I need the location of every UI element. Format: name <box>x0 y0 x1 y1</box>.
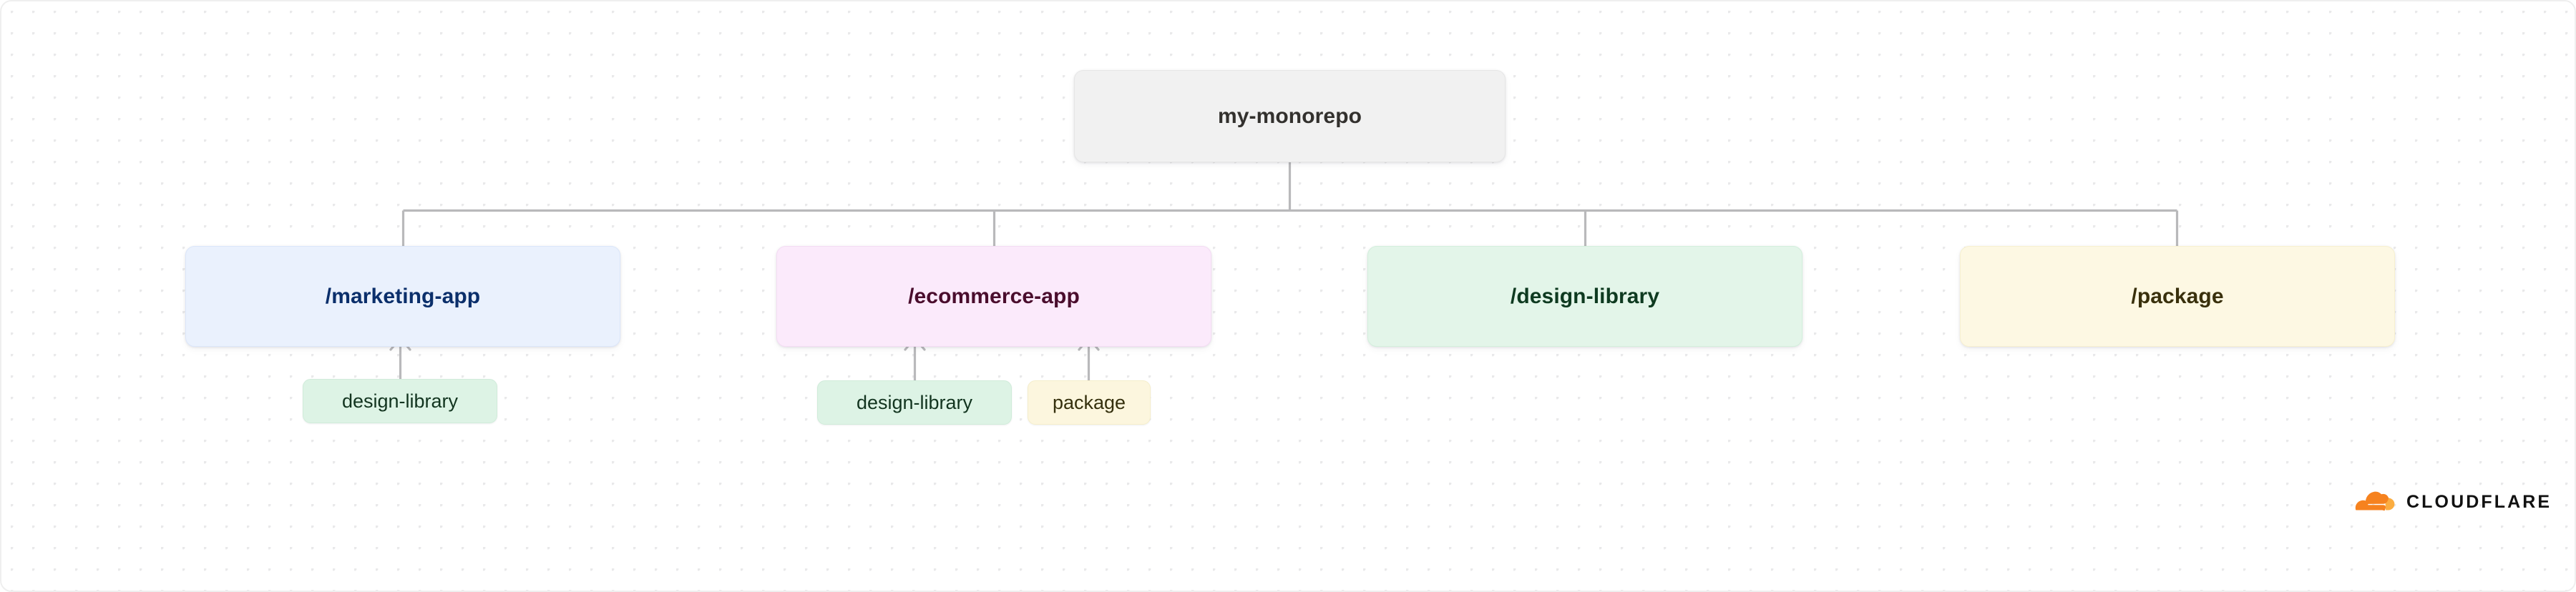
cloudflare-wordmark: CLOUDFLARE <box>2406 493 2552 511</box>
dependency-chip-marketing-design-library[interactable]: design-library <box>303 379 497 423</box>
dependency-chip-ecommerce-design-library[interactable]: design-library <box>817 380 1012 425</box>
dependency-chip-label: package <box>1053 392 1126 414</box>
node-label: /package <box>2131 285 2223 309</box>
node-label: /marketing-app <box>326 285 480 309</box>
dependency-chip-label: design-library <box>342 390 458 413</box>
node-label: my-monorepo <box>1218 104 1362 129</box>
node-label: /design-library <box>1511 285 1659 309</box>
dependency-chip-label: design-library <box>857 392 972 414</box>
diagram-canvas[interactable]: my-monorepo /marketing-app /ecommerce-ap… <box>0 0 2576 592</box>
cloudflare-cloud-icon <box>2354 490 2399 514</box>
node-design-library[interactable]: /design-library <box>1367 246 1802 347</box>
dependency-chip-ecommerce-package[interactable]: package <box>1028 380 1151 425</box>
node-package[interactable]: /package <box>1960 246 2395 347</box>
cloudflare-logo: CLOUDFLARE <box>2354 490 2552 514</box>
node-marketing-app[interactable]: /marketing-app <box>185 246 620 347</box>
node-my-monorepo[interactable]: my-monorepo <box>1074 70 1506 162</box>
node-label: /ecommerce-app <box>908 285 1080 309</box>
node-ecommerce-app[interactable]: /ecommerce-app <box>776 246 1211 347</box>
